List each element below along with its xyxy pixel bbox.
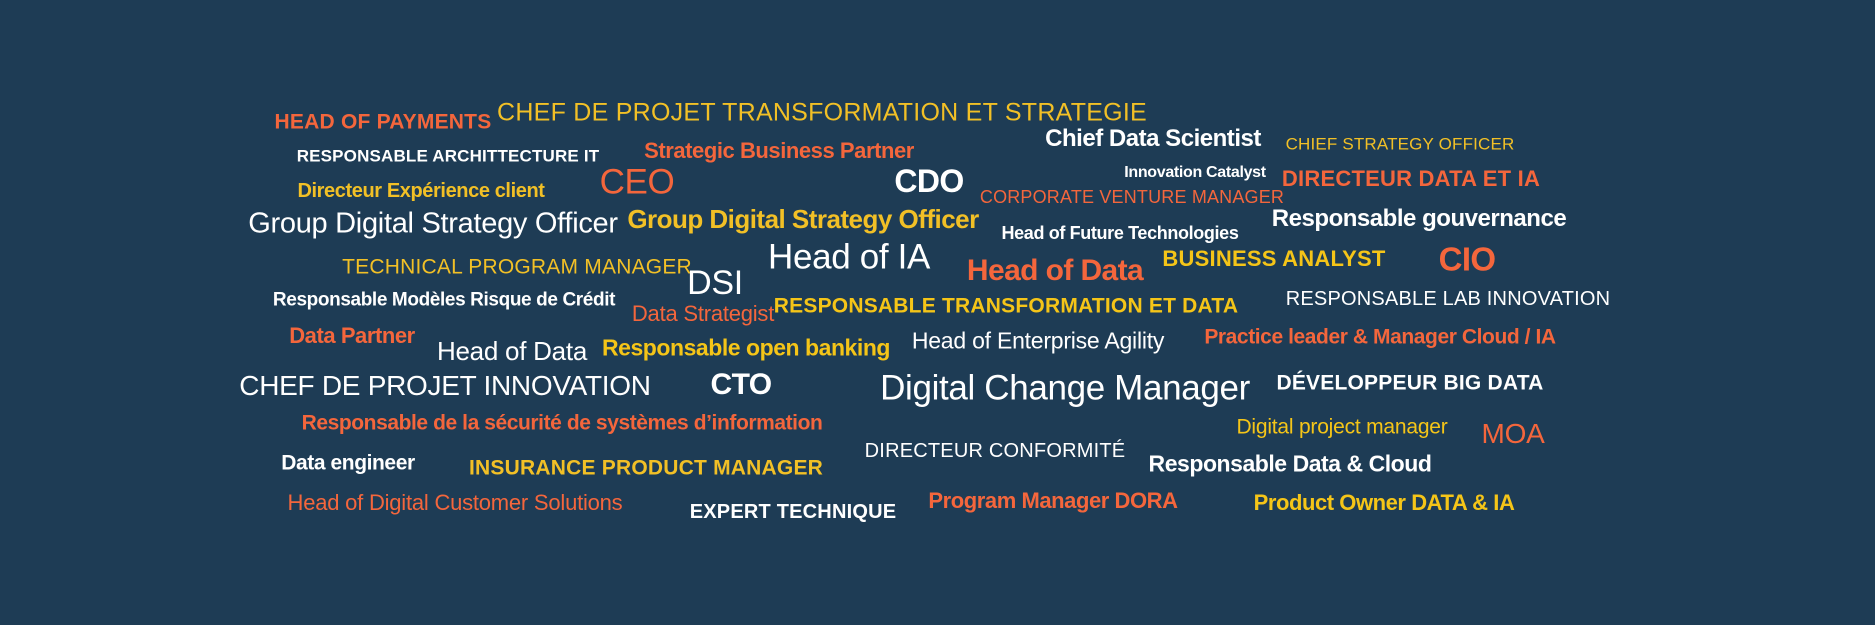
cloud-word: HEAD OF PAYMENTS bbox=[275, 112, 492, 133]
cloud-word: Head of IA bbox=[768, 240, 930, 275]
cloud-word: CTO bbox=[711, 370, 772, 400]
cloud-word: Responsable Modèles Risque de Crédit bbox=[273, 291, 615, 310]
cloud-word: Digital project manager bbox=[1236, 417, 1447, 438]
cloud-word: Directeur Expérience client bbox=[297, 181, 544, 201]
cloud-word: DÉVELOPPEUR BIG DATA bbox=[1276, 373, 1543, 394]
word-cloud-canvas: HEAD OF PAYMENTSCHEF DE PROJET TRANSFORM… bbox=[0, 0, 1875, 625]
cloud-word: MOA bbox=[1482, 420, 1545, 448]
cloud-word: CHEF DE PROJET TRANSFORMATION ET STRATEG… bbox=[497, 101, 1147, 126]
cloud-word: Practice leader & Manager Cloud / IA bbox=[1204, 327, 1555, 348]
cloud-word: Data engineer bbox=[281, 453, 414, 474]
cloud-word: Chief Data Scientist bbox=[1045, 127, 1261, 151]
cloud-word: Product Owner DATA & IA bbox=[1254, 492, 1515, 514]
cloud-word: RESPONSABLE LAB INNOVATION bbox=[1286, 289, 1611, 309]
cloud-word: CHIEF STRATEGY OFFICER bbox=[1286, 136, 1515, 153]
cloud-word: Strategic Business Partner bbox=[644, 140, 914, 162]
cloud-word: Head of Data bbox=[967, 256, 1143, 286]
cloud-word: Group Digital Strategy Officer bbox=[627, 206, 978, 232]
cloud-word: RESPONSABLE TRANSFORMATION ET DATA bbox=[774, 296, 1238, 317]
cloud-word: TECHNICAL PROGRAM MANAGER bbox=[342, 257, 692, 278]
cloud-word: Innovation Catalyst bbox=[1124, 165, 1266, 181]
cloud-word: Responsable gouvernance bbox=[1272, 207, 1566, 231]
cloud-word: Head of Enterprise Agility bbox=[912, 330, 1164, 353]
cloud-word: EXPERT TECHNIQUE bbox=[690, 502, 897, 522]
cloud-word: CORPORATE VENTURE MANAGER bbox=[980, 188, 1284, 206]
cloud-word: CDO bbox=[894, 165, 963, 197]
cloud-word: Responsable Data & Cloud bbox=[1149, 453, 1432, 476]
cloud-word: BUSINESS ANALYST bbox=[1162, 248, 1385, 270]
cloud-word: Responsable de la sécurité de systèmes d… bbox=[302, 413, 823, 434]
cloud-word: DIRECTEUR CONFORMITÉ bbox=[865, 441, 1126, 461]
cloud-word: Program Manager DORA bbox=[928, 490, 1177, 512]
cloud-word: Data Partner bbox=[289, 325, 415, 347]
cloud-word: Head of Digital Customer Solutions bbox=[288, 492, 623, 514]
cloud-word: Group Digital Strategy Officer bbox=[248, 210, 618, 239]
cloud-word: Head of Future Technologies bbox=[1002, 224, 1239, 242]
cloud-word: Digital Change Manager bbox=[880, 371, 1250, 406]
cloud-word: CEO bbox=[600, 165, 675, 200]
cloud-word: DSI bbox=[687, 266, 743, 300]
cloud-word: CHEF DE PROJET INNOVATION bbox=[239, 372, 650, 400]
cloud-word: CIO bbox=[1439, 243, 1496, 276]
cloud-word: INSURANCE PRODUCT MANAGER bbox=[469, 458, 823, 479]
cloud-word: Data Strategist bbox=[632, 303, 774, 325]
cloud-word: Head of Data bbox=[437, 338, 587, 364]
cloud-word: Responsable open banking bbox=[602, 337, 890, 360]
cloud-word: DIRECTEUR DATA ET IA bbox=[1282, 168, 1540, 190]
cloud-word: RESPONSABLE ARCHITTECTURE IT bbox=[297, 148, 600, 165]
